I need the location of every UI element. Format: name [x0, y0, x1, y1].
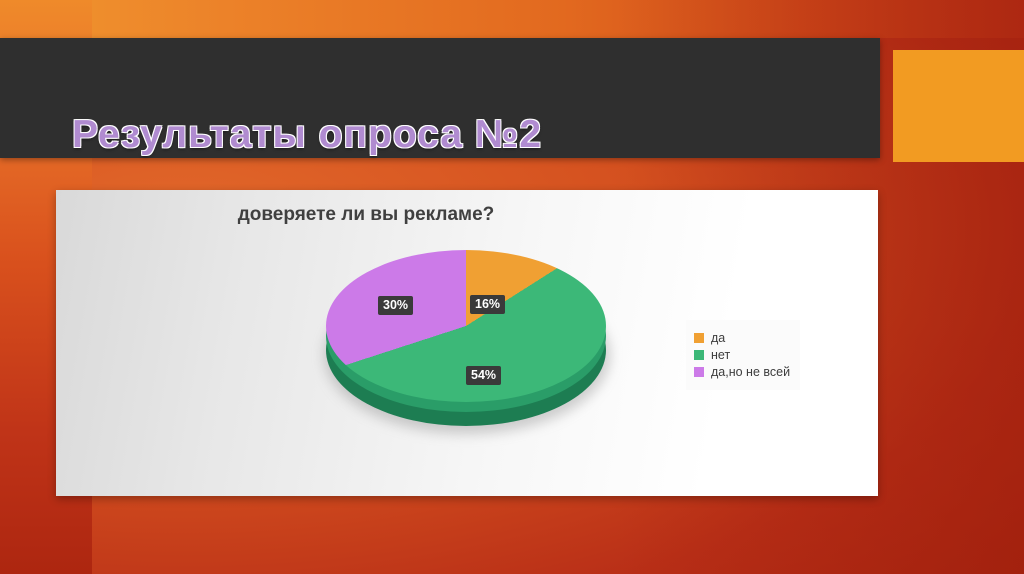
legend-item-net: нет — [694, 348, 790, 362]
chart-legend: да нет да,но не всей — [686, 320, 800, 390]
title-bar: Результаты опроса №2 — [0, 38, 880, 158]
chart-title: доверяете ли вы рекламе? — [56, 204, 676, 226]
legend-label-net: нет — [711, 348, 730, 362]
pie-slice-label-da: 16% — [470, 295, 505, 314]
legend-swatch-net — [694, 350, 704, 360]
legend-item-da-no-ne-vsey: да,но не всей — [694, 365, 790, 379]
legend-swatch-da-no-ne-vsey — [694, 367, 704, 377]
page-title: Результаты опроса №2 — [72, 113, 542, 157]
legend-label-da: да — [711, 331, 725, 345]
chart-card: доверяете ли вы рекламе? 16% 54% 30% да … — [56, 190, 878, 496]
legend-label-da-no-ne-vsey: да,но не всей — [711, 365, 790, 379]
accent-block — [893, 50, 1024, 162]
pie-chart: 16% 54% 30% — [318, 250, 614, 450]
pie-slice-label-da-no-ne-vsey: 30% — [378, 296, 413, 315]
legend-item-da: да — [694, 331, 790, 345]
pie-slice-label-net: 54% — [466, 366, 501, 385]
legend-swatch-da — [694, 333, 704, 343]
